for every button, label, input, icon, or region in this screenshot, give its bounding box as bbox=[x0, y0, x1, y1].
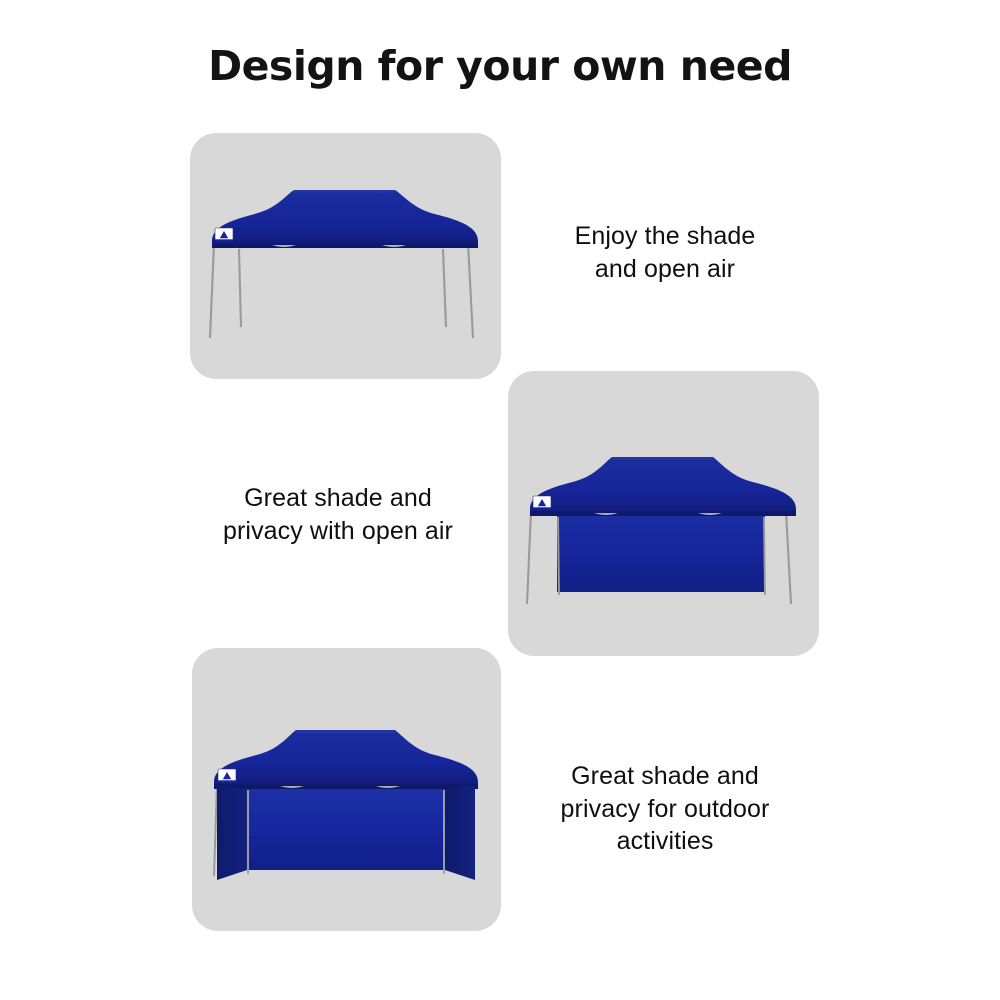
caption-line: and open air bbox=[515, 253, 815, 286]
gazebo-illustration-three-walls bbox=[192, 648, 501, 931]
brand-logo-tag bbox=[218, 769, 236, 782]
caption-three-wall-gazebo: Great shade and privacy for outdoor acti… bbox=[512, 760, 818, 858]
gazebo-illustration-one-wall bbox=[508, 371, 819, 656]
brand-logo-tag bbox=[215, 228, 233, 241]
gazebo-illustration-open bbox=[190, 133, 501, 379]
gazebo-canopy bbox=[212, 190, 478, 248]
caption-line: Enjoy the shade bbox=[515, 220, 815, 253]
product-image-one-wall-gazebo[interactable] bbox=[508, 371, 819, 656]
gazebo-canopy bbox=[214, 730, 478, 789]
caption-one-wall-gazebo: Great shade and privacy with open air bbox=[176, 482, 500, 547]
caption-line: Great shade and bbox=[512, 760, 818, 793]
product-image-three-wall-gazebo[interactable] bbox=[192, 648, 501, 931]
gazebo-side-wall-left bbox=[217, 785, 247, 880]
gazebo-canopy bbox=[530, 457, 796, 516]
caption-line: activities bbox=[512, 825, 818, 858]
page-title: Design for your own need bbox=[0, 44, 1000, 89]
caption-line: privacy for outdoor bbox=[512, 793, 818, 826]
gazebo-back-wall bbox=[557, 516, 765, 592]
caption-open-gazebo: Enjoy the shade and open air bbox=[515, 220, 815, 285]
gazebo-side-wall-right bbox=[445, 785, 475, 880]
gazebo-back-wall bbox=[247, 789, 445, 870]
gazebo-legs bbox=[210, 243, 473, 338]
product-image-open-gazebo[interactable] bbox=[190, 133, 501, 379]
caption-line: Great shade and bbox=[176, 482, 500, 515]
caption-line: privacy with open air bbox=[176, 515, 500, 548]
brand-logo-tag bbox=[533, 496, 551, 509]
